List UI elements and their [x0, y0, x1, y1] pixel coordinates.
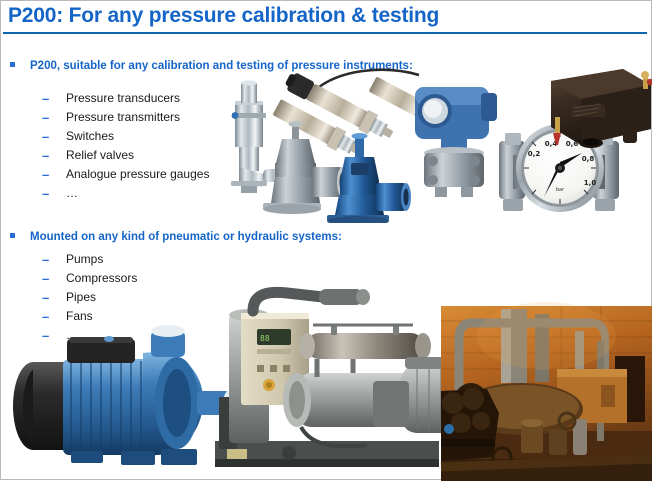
slide-canvas: P200: For any pressure calibration & tes… — [1, 1, 651, 479]
list-item-label: Switches — [66, 127, 114, 146]
dp-transmitter-photo — [415, 87, 497, 197]
dash-icon: – — [42, 108, 51, 127]
list-item-label: … — [66, 184, 78, 203]
plant-interior-photo — [441, 302, 652, 481]
bullet-heading-2: Mounted on any kind of pneumatic or hydr… — [10, 231, 342, 243]
dash-icon: – — [42, 146, 51, 165]
dash-icon: – — [42, 165, 51, 184]
systems-image-group: 88 — [1, 281, 652, 481]
centrifugal-pump-photo — [13, 325, 235, 465]
dash-icon: – — [42, 127, 51, 146]
instruments-image-group: 0,2 0,4 0,6 0,8 1,0 bar — [219, 63, 652, 223]
square-bullet-icon — [10, 62, 15, 67]
svg-text:1,0: 1,0 — [584, 179, 597, 187]
title-underline — [3, 32, 647, 34]
svg-text:bar: bar — [556, 187, 565, 193]
list-item-label: Pressure transmitters — [66, 108, 180, 127]
svg-text:88: 88 — [260, 334, 270, 343]
dash-icon: – — [42, 250, 51, 269]
svg-text:0,2: 0,2 — [528, 150, 541, 158]
dash-icon: – — [42, 184, 51, 203]
list-item-label: Analogue pressure gauges — [66, 165, 209, 184]
bullet-heading-2-label: Mounted on any kind of pneumatic or hydr… — [30, 231, 342, 243]
list-item-label: Pumps — [66, 250, 103, 269]
list-item-label: Relief valves — [66, 146, 134, 165]
svg-text:0,8: 0,8 — [582, 155, 595, 163]
square-bullet-icon — [10, 233, 15, 238]
list-item-label: Pressure transducers — [66, 89, 180, 108]
page-title: P200: For any pressure calibration & tes… — [8, 4, 439, 28]
dash-icon: – — [42, 89, 51, 108]
